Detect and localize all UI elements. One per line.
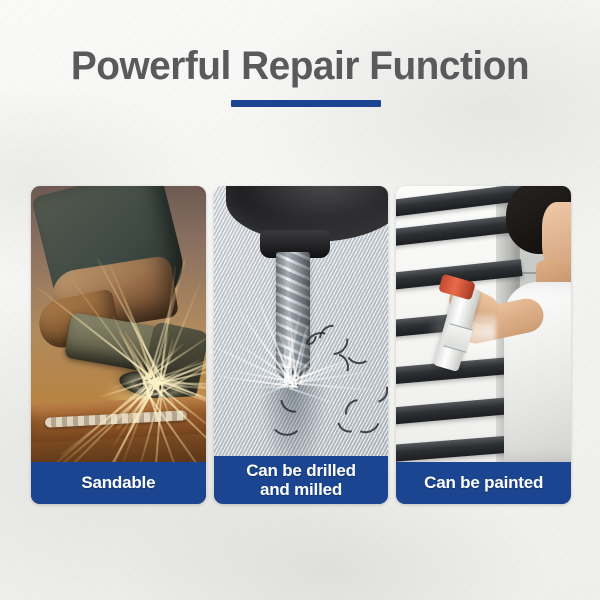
photo-spray-painting <box>396 186 571 504</box>
title-underline-rule <box>231 100 381 107</box>
card-label-line: Can be drilled <box>246 461 356 480</box>
card-label-line: Can be painted <box>424 474 543 492</box>
feature-card-drilled-milled[interactable]: Can be drilled and milled <box>214 186 389 504</box>
card-label-sandable: Sandable <box>31 462 206 504</box>
card-label-painted: Can be painted <box>396 462 571 504</box>
photo-angle-grinder <box>31 186 206 504</box>
card-label-line: Sandable <box>81 474 155 492</box>
card-label-line: and milled <box>246 480 356 499</box>
feature-card-row: Sandable Can be drilled and milled <box>31 186 571 504</box>
page-title: Powerful Repair Function <box>9 44 591 88</box>
card-label-drilled-milled: Can be drilled and milled <box>214 456 389 504</box>
feature-card-painted[interactable]: Can be painted <box>396 186 571 504</box>
feature-card-sandable[interactable]: Sandable <box>31 186 206 504</box>
promo-banner: Powerful Repair Function Sandable <box>0 0 600 600</box>
